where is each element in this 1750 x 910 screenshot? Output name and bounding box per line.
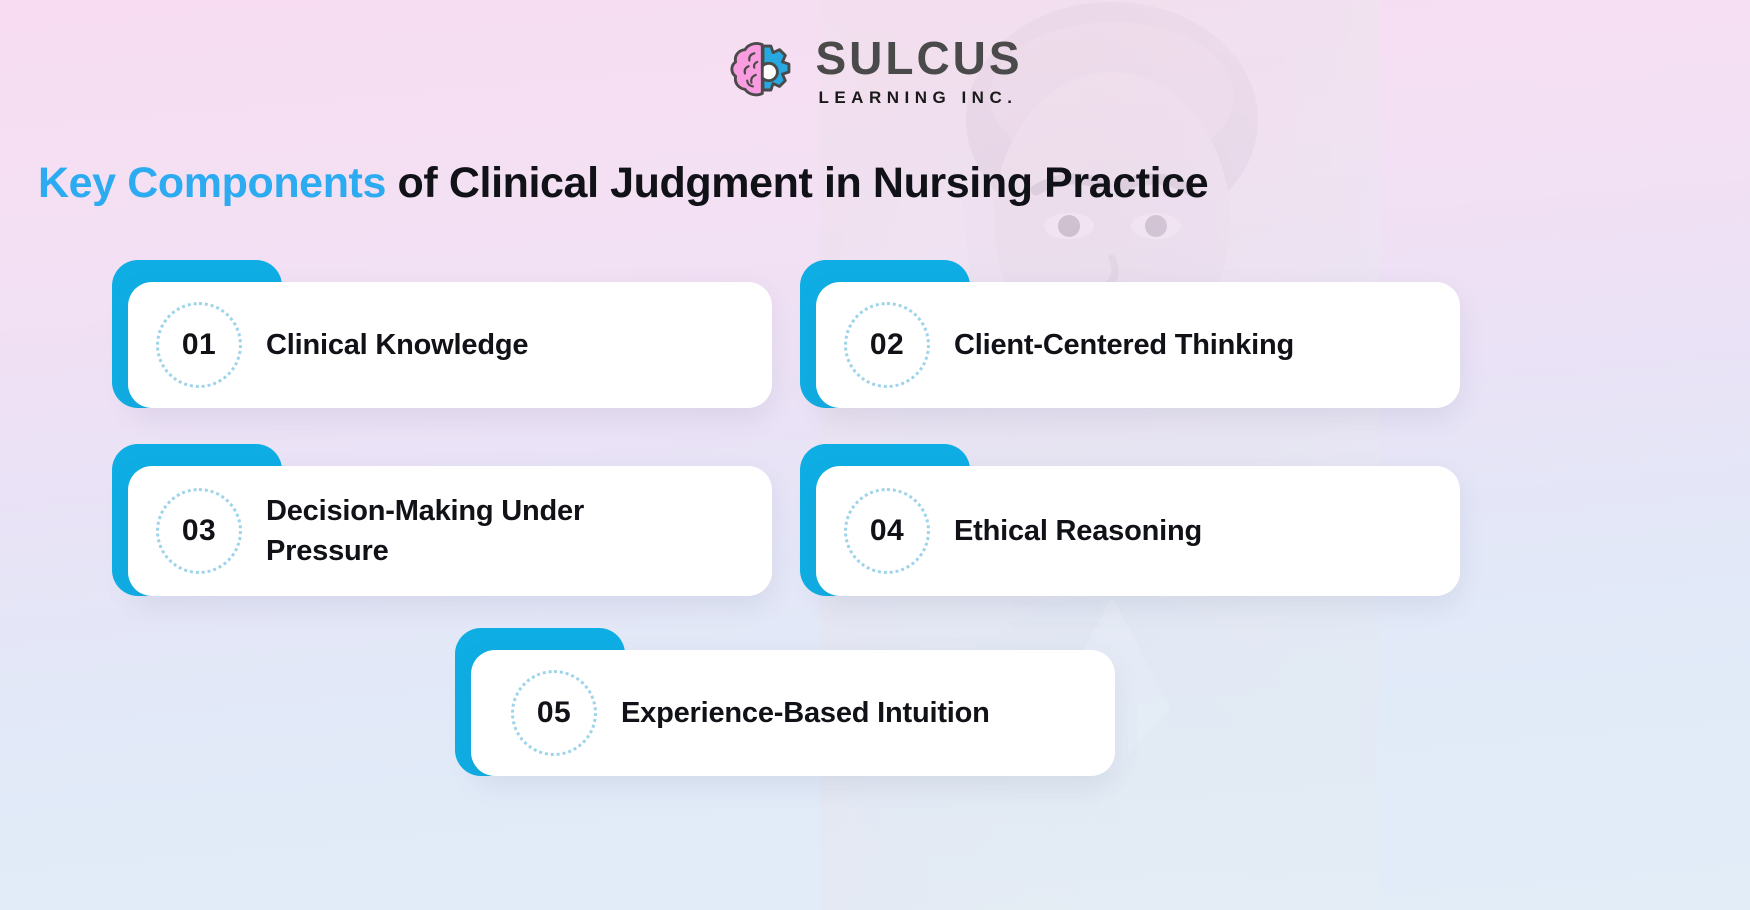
card-panel: 04 Ethical Reasoning (816, 466, 1460, 596)
card-number: 04 (870, 514, 904, 548)
card-number-badge: 05 (511, 670, 597, 756)
card-number-badge: 02 (844, 302, 930, 388)
card-number: 02 (870, 328, 904, 362)
card-number: 05 (537, 696, 571, 730)
card-panel: 02 Client-Centered Thinking (816, 282, 1460, 408)
component-card-01[interactable]: 01 Clinical Knowledge (112, 260, 772, 408)
card-label: Ethical Reasoning (954, 511, 1202, 551)
card-number: 03 (182, 514, 216, 548)
card-label: Experience-Based Intuition (621, 693, 990, 733)
card-panel: 01 Clinical Knowledge (128, 282, 772, 408)
card-panel: 03 Decision-Making Under Pressure (128, 466, 772, 596)
card-label: Decision-Making Under Pressure (266, 491, 696, 571)
component-card-05[interactable]: 05 Experience-Based Intuition (455, 628, 1115, 776)
component-card-02[interactable]: 02 Client-Centered Thinking (800, 260, 1460, 408)
card-number-badge: 04 (844, 488, 930, 574)
card-label: Client-Centered Thinking (954, 325, 1294, 365)
components-grid: 01 Clinical Knowledge 02 Client-Centered… (0, 0, 1750, 910)
card-label: Clinical Knowledge (266, 325, 528, 365)
slide-canvas: SULCUS LEARNING INC. Key Components of C… (0, 0, 1750, 910)
component-card-03[interactable]: 03 Decision-Making Under Pressure (112, 444, 772, 596)
card-number-badge: 01 (156, 302, 242, 388)
card-panel: 05 Experience-Based Intuition (471, 650, 1115, 776)
card-number: 01 (182, 328, 216, 362)
card-number-badge: 03 (156, 488, 242, 574)
component-card-04[interactable]: 04 Ethical Reasoning (800, 444, 1460, 596)
